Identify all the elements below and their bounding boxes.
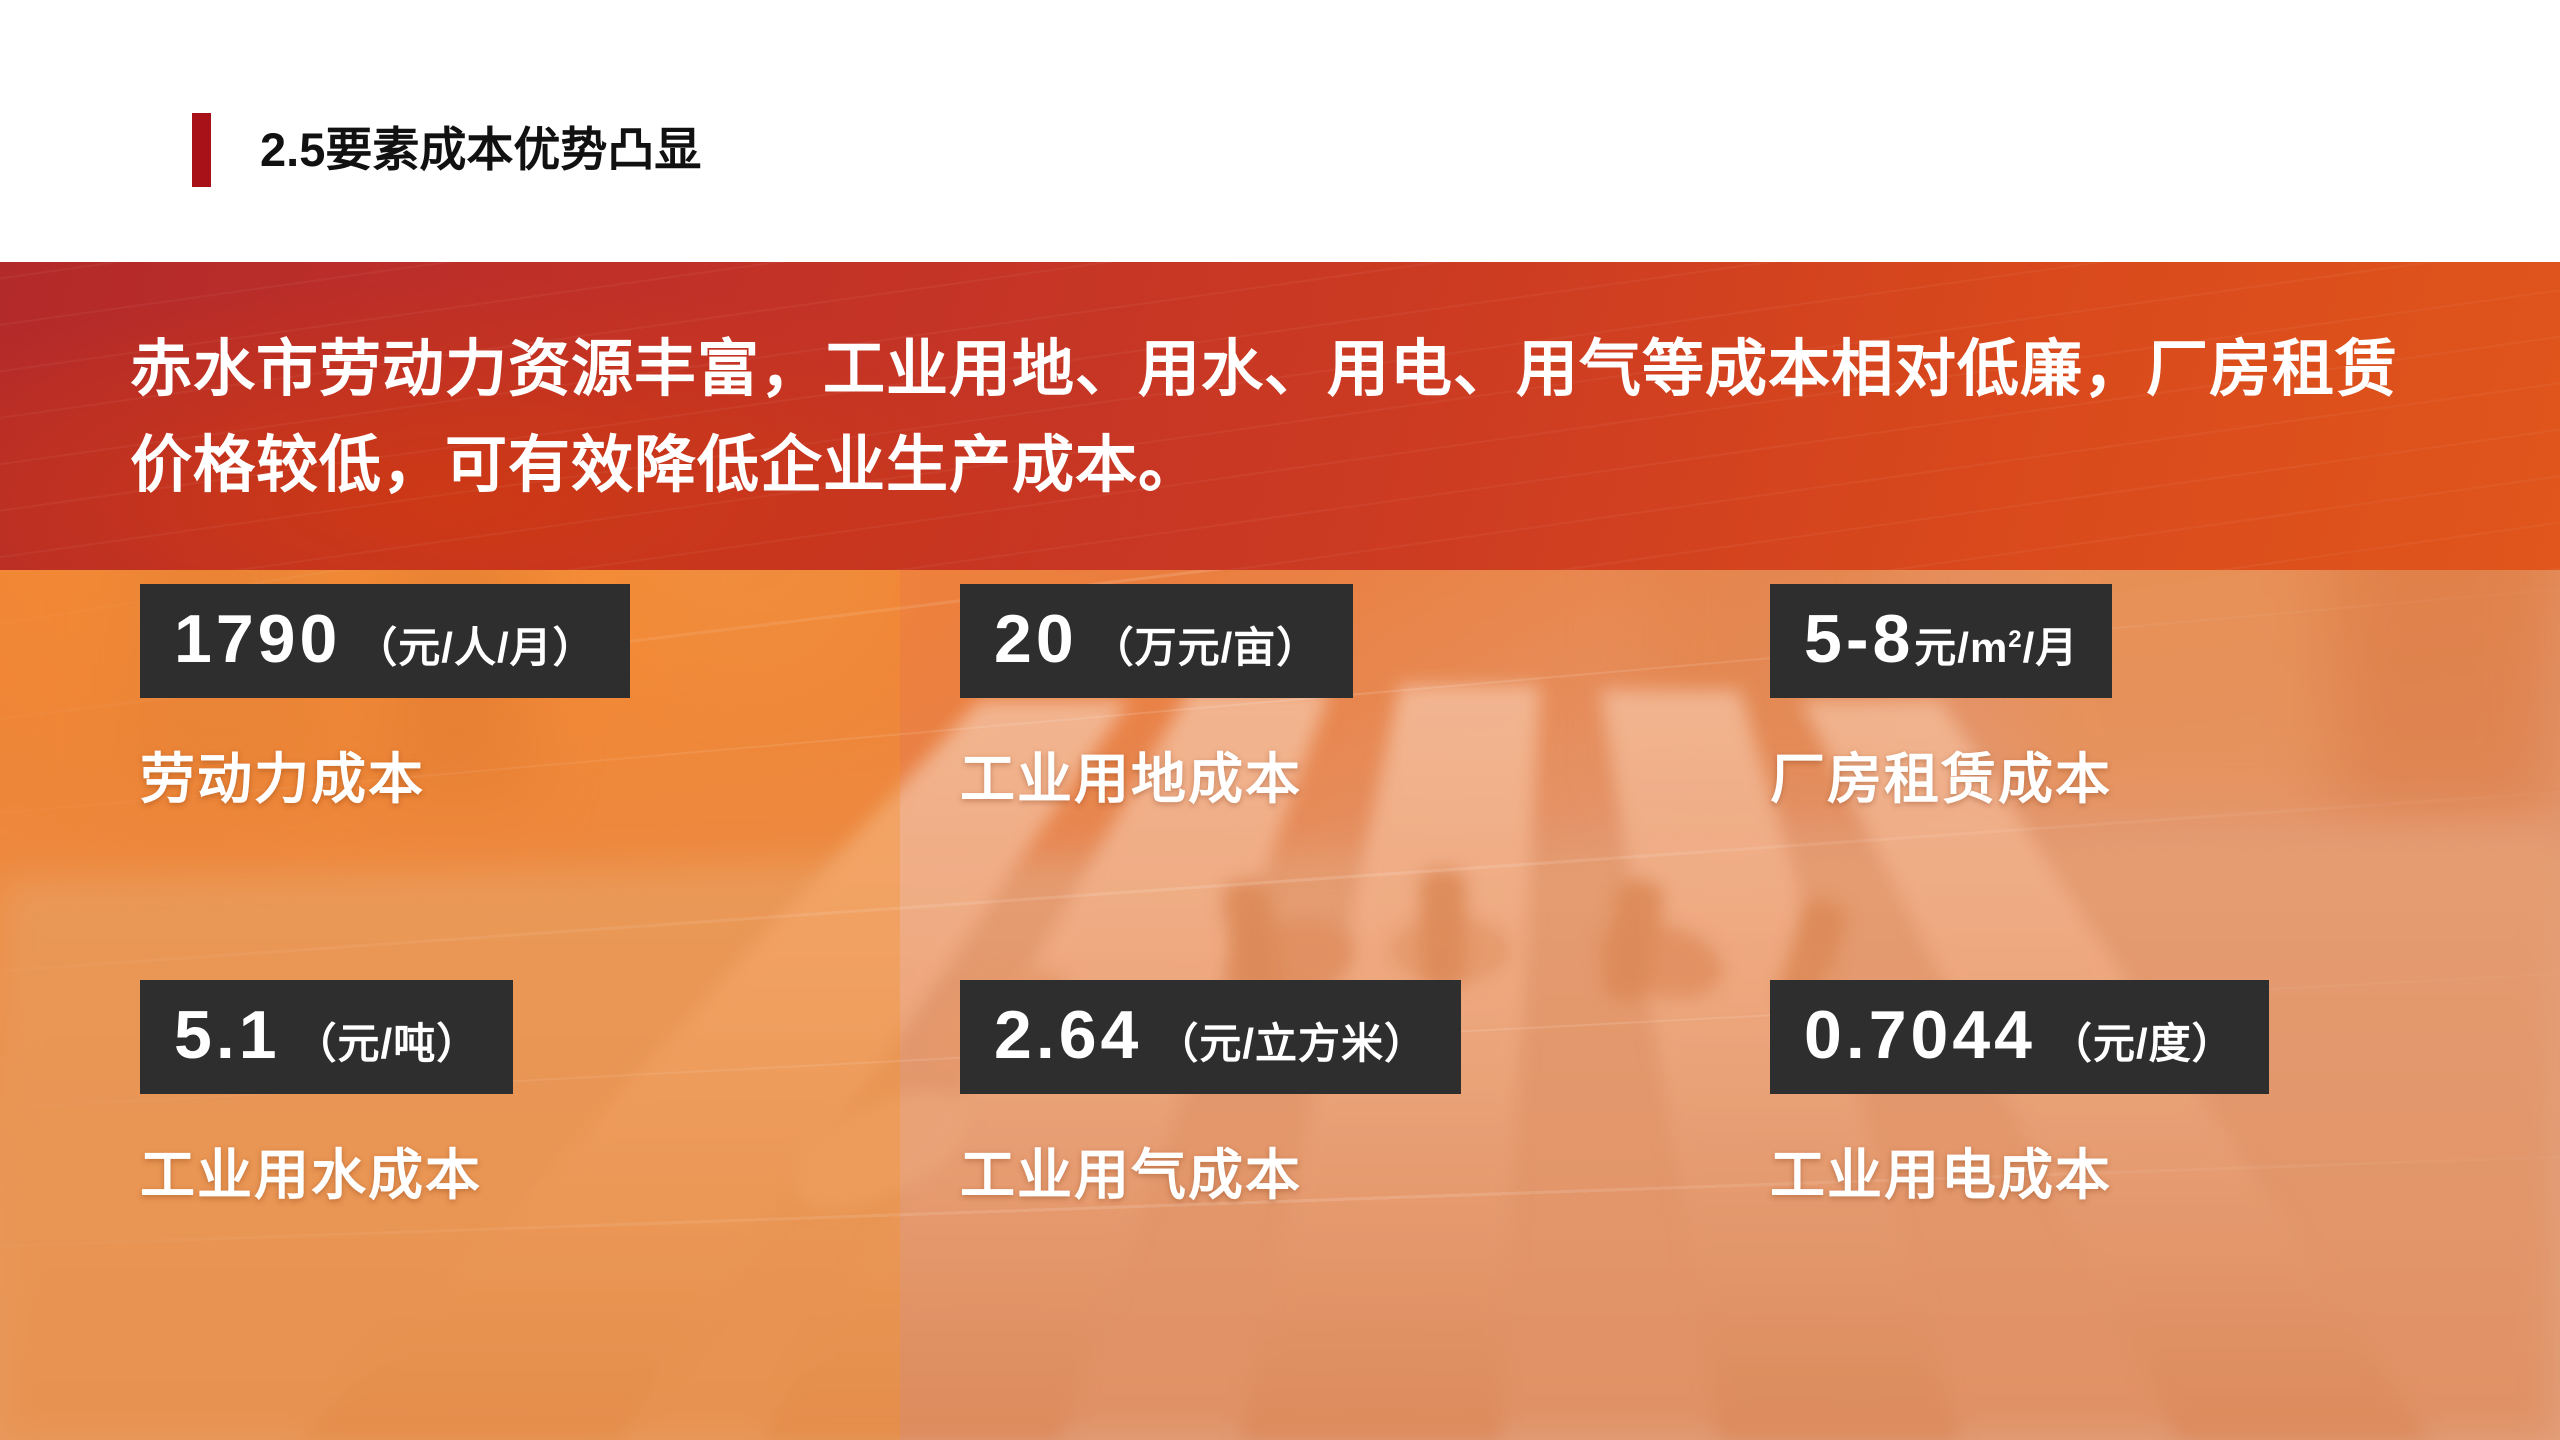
stat-factory-rent-cost: 5-8元/m2/月 厂房租赁成本 xyxy=(1770,584,2560,814)
stat-value: 1790 xyxy=(174,601,341,677)
slide-header: 2.5要素成本优势凸显 xyxy=(0,0,2560,262)
stat-chip: 2.64（元/立方米） xyxy=(960,980,1461,1094)
stat-chip: 5-8元/m2/月 xyxy=(1770,584,2112,698)
stats-row-1: 1790（元/人/月） 劳动力成本 20（万元/亩） 工业用地成本 5-8元/m… xyxy=(0,584,2560,924)
headline-banner: 赤水市劳动力资源丰富，工业用地、用水、用电、用气等成本相对低廉，厂房租赁价格较低… xyxy=(0,262,2560,570)
page-title: 2.5要素成本优势凸显 xyxy=(260,118,701,182)
stat-label: 工业用地成本 xyxy=(960,734,1760,814)
stat-chip: 20（万元/亩） xyxy=(960,584,1353,698)
stat-label: 工业用电成本 xyxy=(1770,1130,2560,1210)
stat-unit: （元/吨） xyxy=(295,1020,480,1067)
stat-chip: 1790（元/人/月） xyxy=(140,584,630,698)
title-accent-bar xyxy=(192,113,211,187)
stat-label: 劳动力成本 xyxy=(140,734,940,814)
stat-unit: （万元/亩） xyxy=(1092,624,1320,671)
stat-industrial-land-cost: 20（万元/亩） 工业用地成本 xyxy=(960,584,1760,814)
stat-unit: （元/度） xyxy=(2050,1020,2235,1067)
stat-chip: 5.1（元/吨） xyxy=(140,980,513,1094)
stat-industrial-gas-cost: 2.64（元/立方米） 工业用气成本 xyxy=(960,980,1760,1210)
stats-row-2: 5.1（元/吨） 工业用水成本 2.64（元/立方米） 工业用气成本 0.704… xyxy=(0,980,2560,1320)
stats-grid: 1790（元/人/月） 劳动力成本 20（万元/亩） 工业用地成本 5-8元/m… xyxy=(0,570,2560,1330)
stat-value: 5-8 xyxy=(1804,601,1914,677)
stat-label: 厂房租赁成本 xyxy=(1770,734,2560,814)
slide: 赤水市劳动力资源丰富，工业用地、用水、用电、用气等成本相对低廉，厂房租赁价格较低… xyxy=(0,0,2560,1440)
stat-unit: 元/m2/月 xyxy=(1914,624,2078,671)
stat-value: 5.1 xyxy=(174,997,281,1073)
stat-industrial-water-cost: 5.1（元/吨） 工业用水成本 xyxy=(140,980,940,1210)
headline-text: 赤水市劳动力资源丰富，工业用地、用水、用电、用气等成本相对低廉，厂房租赁价格较低… xyxy=(130,322,2430,514)
stat-label: 工业用气成本 xyxy=(960,1130,1760,1210)
stat-chip: 0.7044（元/度） xyxy=(1770,980,2269,1094)
stat-label: 工业用水成本 xyxy=(140,1130,940,1210)
stat-industrial-power-cost: 0.7044（元/度） 工业用电成本 xyxy=(1770,980,2560,1210)
stat-unit: （元/人/月） xyxy=(355,624,595,671)
stat-value: 20 xyxy=(994,601,1078,677)
stat-value: 0.7044 xyxy=(1804,997,2036,1073)
stat-labor-cost: 1790（元/人/月） 劳动力成本 xyxy=(140,584,940,814)
stat-value: 2.64 xyxy=(994,997,1142,1073)
stat-unit: （元/立方米） xyxy=(1156,1020,1427,1067)
